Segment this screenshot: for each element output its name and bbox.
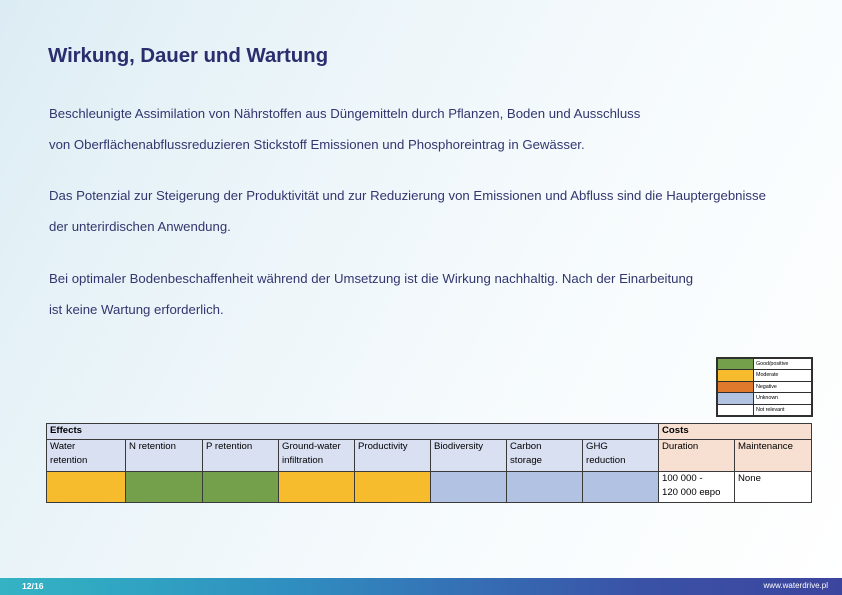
effects-costs-table: Effects Costs Water retention N retentio… (46, 423, 812, 503)
cell-n-retention (126, 471, 203, 502)
legend-swatch-unknown (718, 393, 754, 404)
table-row: 100 000 - 120 000 евро None (47, 471, 812, 502)
legend-label-unknown: Unknown (754, 393, 812, 404)
color-legend: Good/positive Moderate Negative Unknown … (716, 357, 813, 417)
col-header-ground-water-infiltration: Ground-water infiltration (279, 439, 355, 471)
table-group-header-row: Effects Costs (47, 424, 812, 440)
table-column-header-row: Water retention N retention P retention … (47, 439, 812, 471)
col-header-biodiversity: Biodiversity (431, 439, 507, 471)
legend-table: Good/positive Moderate Negative Unknown … (717, 358, 812, 416)
legend-swatch-good (718, 359, 754, 370)
col-header-line-1: Ground-water (282, 440, 354, 455)
col-header-water-retention: Water retention (47, 439, 126, 471)
col-header-line-1: Water (50, 440, 125, 455)
page-number: 12/16 (22, 581, 44, 591)
paragraph-1-line-1: Beschleunigte Assimilation von Nährstoff… (49, 98, 812, 129)
legend-row: Good/positive (718, 359, 812, 370)
col-header-line-1: P retention (206, 440, 278, 455)
col-header-line-1: Biodiversity (434, 440, 506, 455)
col-header-line-1: GHG (586, 440, 658, 455)
col-header-p-retention: P retention (203, 439, 279, 471)
paragraph-2-line-1: Das Potenzial zur Steigerung der Produkt… (49, 180, 812, 211)
col-header-n-retention: N retention (126, 439, 203, 471)
cell-ground-water-infiltration (279, 471, 355, 502)
footer-bar: 12/16 www.waterdrive.pl (0, 578, 842, 595)
cell-biodiversity (431, 471, 507, 502)
paragraph-3-line-1: Bei optimaler Bodenbeschaffenheit währen… (49, 263, 812, 294)
page-title: Wirkung, Dauer und Wartung (48, 44, 328, 68)
cell-duration: 100 000 - 120 000 евро (659, 471, 735, 502)
legend-row: Unknown (718, 393, 812, 404)
legend-label-negative: Negative (754, 381, 812, 392)
col-header-ghg-reduction: GHG reduction (583, 439, 659, 471)
legend-row: Negative (718, 381, 812, 392)
cell-maintenance: None (735, 471, 812, 502)
cell-carbon-storage (507, 471, 583, 502)
legend-swatch-not-relevant (718, 404, 754, 415)
col-header-productivity: Productivity (355, 439, 431, 471)
col-header-maintenance: Maintenance (735, 439, 812, 471)
col-header-line-2: reduction (586, 455, 625, 466)
col-header-line-2: storage (510, 455, 542, 466)
footer-url[interactable]: www.waterdrive.pl (764, 581, 828, 590)
legend-label-good: Good/positive (754, 359, 812, 370)
legend-label-not-relevant: Not relevant (754, 404, 812, 415)
col-header-carbon-storage: Carbon storage (507, 439, 583, 471)
group-header-effects: Effects (47, 424, 659, 440)
paragraph-3-line-2: ist keine Wartung erforderlich. (49, 294, 812, 325)
legend-row: Not relevant (718, 404, 812, 415)
paragraph-1: Beschleunigte Assimilation von Nährstoff… (49, 98, 812, 160)
col-header-line-2: retention (50, 455, 87, 466)
col-header-line-2: infiltration (282, 455, 323, 466)
legend-row: Moderate (718, 370, 812, 381)
legend-swatch-negative (718, 381, 754, 392)
paragraph-1-line-2: von Oberflächenabflussreduzieren Stickst… (49, 129, 812, 160)
col-header-line-1: Carbon (510, 440, 582, 455)
cell-ghg-reduction (583, 471, 659, 502)
cell-p-retention (203, 471, 279, 502)
col-header-line-1: Maintenance (738, 440, 811, 455)
col-header-line-1: N retention (129, 440, 202, 455)
legend-label-moderate: Moderate (754, 370, 812, 381)
cell-duration-line-2: 120 000 евро (662, 487, 720, 498)
col-header-duration: Duration (659, 439, 735, 471)
col-header-line-1: Duration (662, 440, 734, 455)
legend-swatch-moderate (718, 370, 754, 381)
cell-productivity (355, 471, 431, 502)
cell-maintenance-line-1: None (738, 472, 811, 487)
col-header-line-1: Productivity (358, 440, 430, 455)
group-header-costs: Costs (659, 424, 812, 440)
paragraph-3: Bei optimaler Bodenbeschaffenheit währen… (49, 263, 812, 325)
cell-duration-line-1: 100 000 - (662, 472, 734, 487)
cell-water-retention (47, 471, 126, 502)
paragraph-2: Das Potenzial zur Steigerung der Produkt… (49, 180, 812, 242)
paragraph-2-line-2: der unterirdischen Anwendung. (49, 211, 812, 242)
slide-canvas: Wirkung, Dauer und Wartung Beschleunigte… (0, 0, 842, 595)
